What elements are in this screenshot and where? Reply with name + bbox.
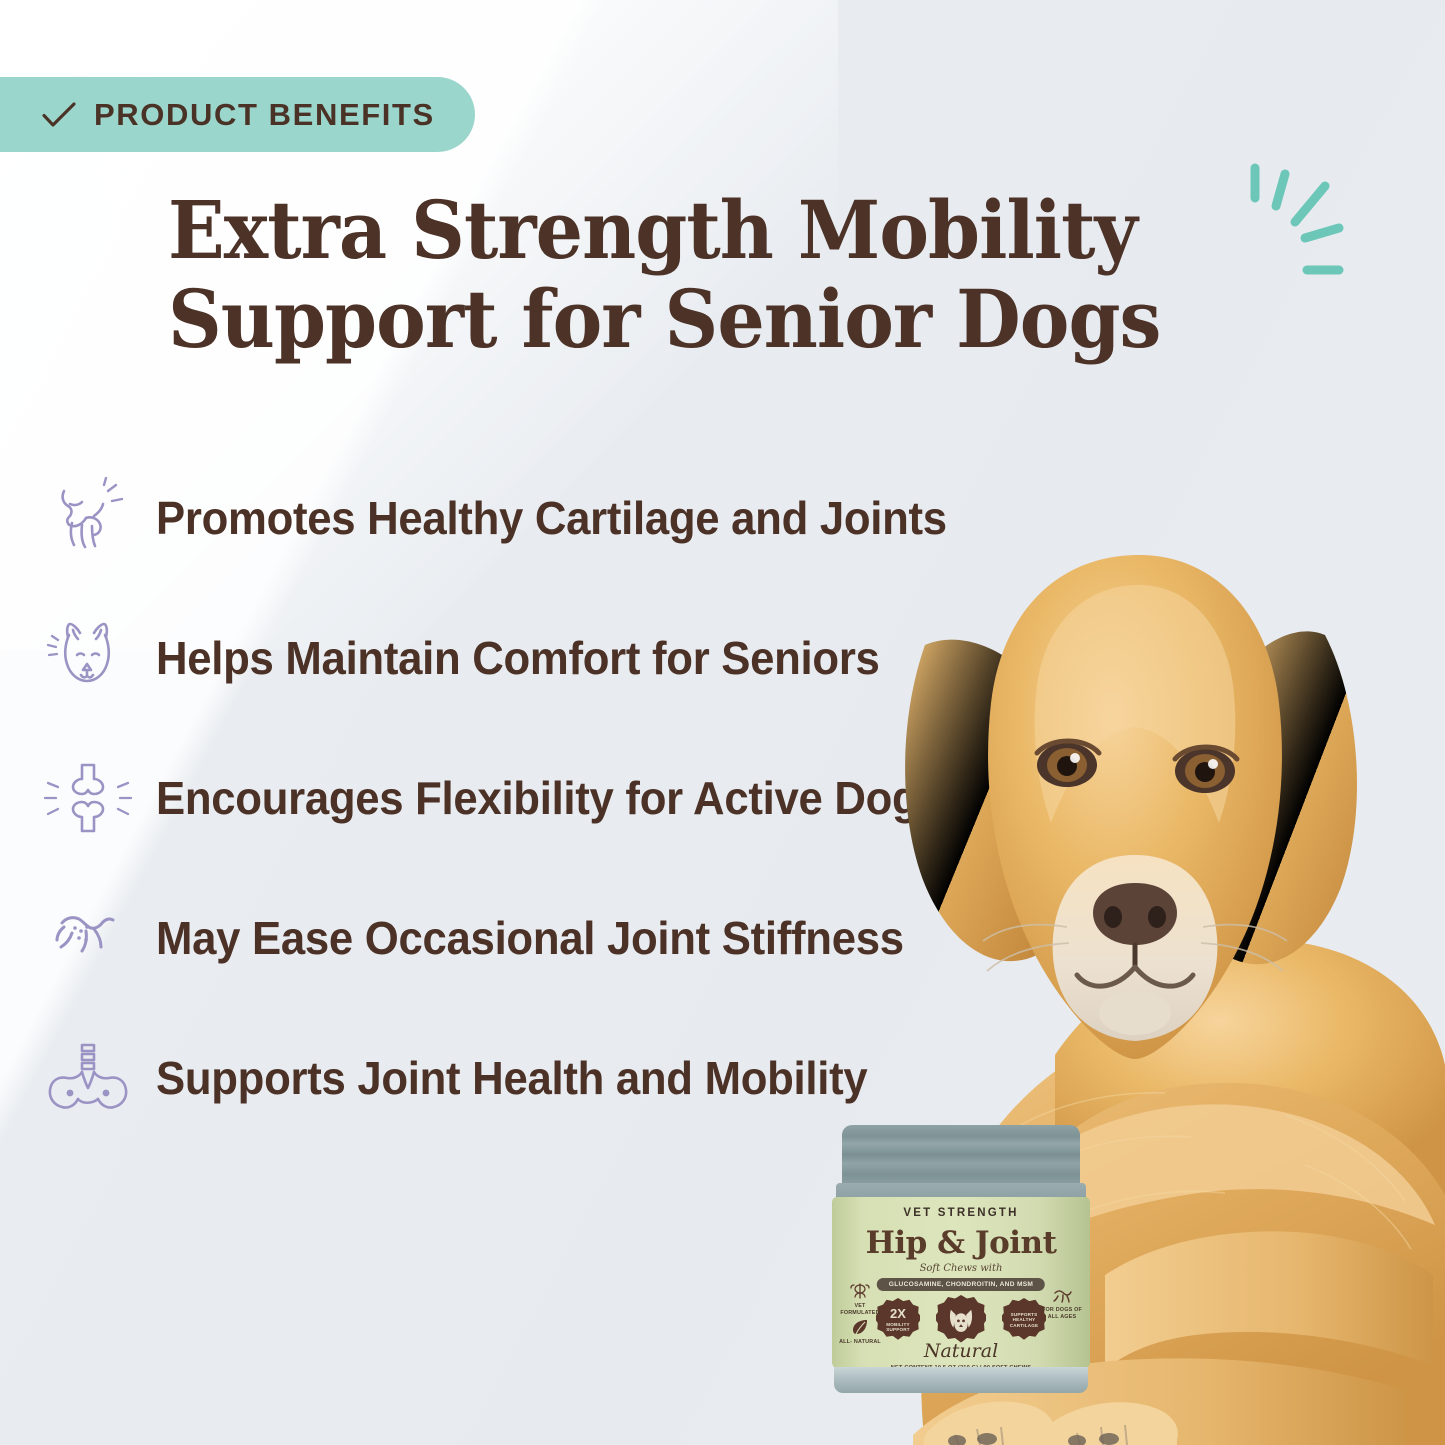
benefit-label: Supports Joint Health and Mobility <box>156 1051 867 1105</box>
jar-side-mark-all-natural: ALL- NATURAL <box>836 1317 884 1346</box>
jar-vet-strength: VET STRENGTH <box>832 1207 1090 1219</box>
running-dog-icon <box>42 897 134 979</box>
check-icon <box>42 102 76 128</box>
leaf-icon <box>849 1317 871 1337</box>
dog-face-icon <box>42 617 134 699</box>
jar-label: VET STRENGTH Hip & Joint Soft Chews with… <box>832 1197 1090 1369</box>
jar-side-label: VET FORMULATED <box>836 1303 884 1317</box>
page-title: Extra Strength Mobility Support for Seni… <box>168 186 1265 364</box>
jar-side-mark-all-ages: FOR DOGS OF ALL AGES <box>1038 1285 1086 1321</box>
dog-face-seal-icon <box>936 1295 986 1345</box>
badge-label: PRODUCT BENEFITS <box>94 97 435 133</box>
benefit-label: Helps Maintain Comfort for Seniors <box>156 631 880 685</box>
jar-lid <box>842 1125 1080 1187</box>
jar-side-label: ALL- NATURAL <box>839 1339 881 1346</box>
jar-ingredients: GLUCOSAMINE, CHONDROITIN, AND MSM <box>877 1278 1045 1291</box>
jar-subtitle: Soft Chews with <box>832 1263 1090 1274</box>
sparkle-burst-icon <box>1243 160 1353 295</box>
product-benefits-badge: PRODUCT BENEFITS <box>0 77 475 152</box>
benefit-label: May Ease Occasional Joint Stiffness <box>156 911 904 965</box>
jar-base <box>834 1367 1088 1393</box>
product-jar: VET STRENGTH Hip & Joint Soft Chews with… <box>832 1125 1090 1393</box>
jar-product-title: Hip & Joint <box>832 1225 1090 1261</box>
jar-side-mark-vet-formulated: VET FORMULATED <box>836 1281 884 1317</box>
headline-line-1: Extra Strength Mobility <box>168 183 1137 277</box>
headline-line-2: Support for Senior Dogs <box>168 275 1265 364</box>
hip-pelvis-icon <box>42 1037 134 1119</box>
caduceus-icon <box>849 1281 871 1301</box>
bone-joint-icon <box>42 757 134 839</box>
jar-side-label: FOR DOGS OF ALL AGES <box>1038 1307 1086 1321</box>
knee-joint-icon <box>42 477 134 559</box>
running-dog-icon <box>1051 1285 1073 1305</box>
seal-2x-value: 2X <box>890 1307 906 1322</box>
